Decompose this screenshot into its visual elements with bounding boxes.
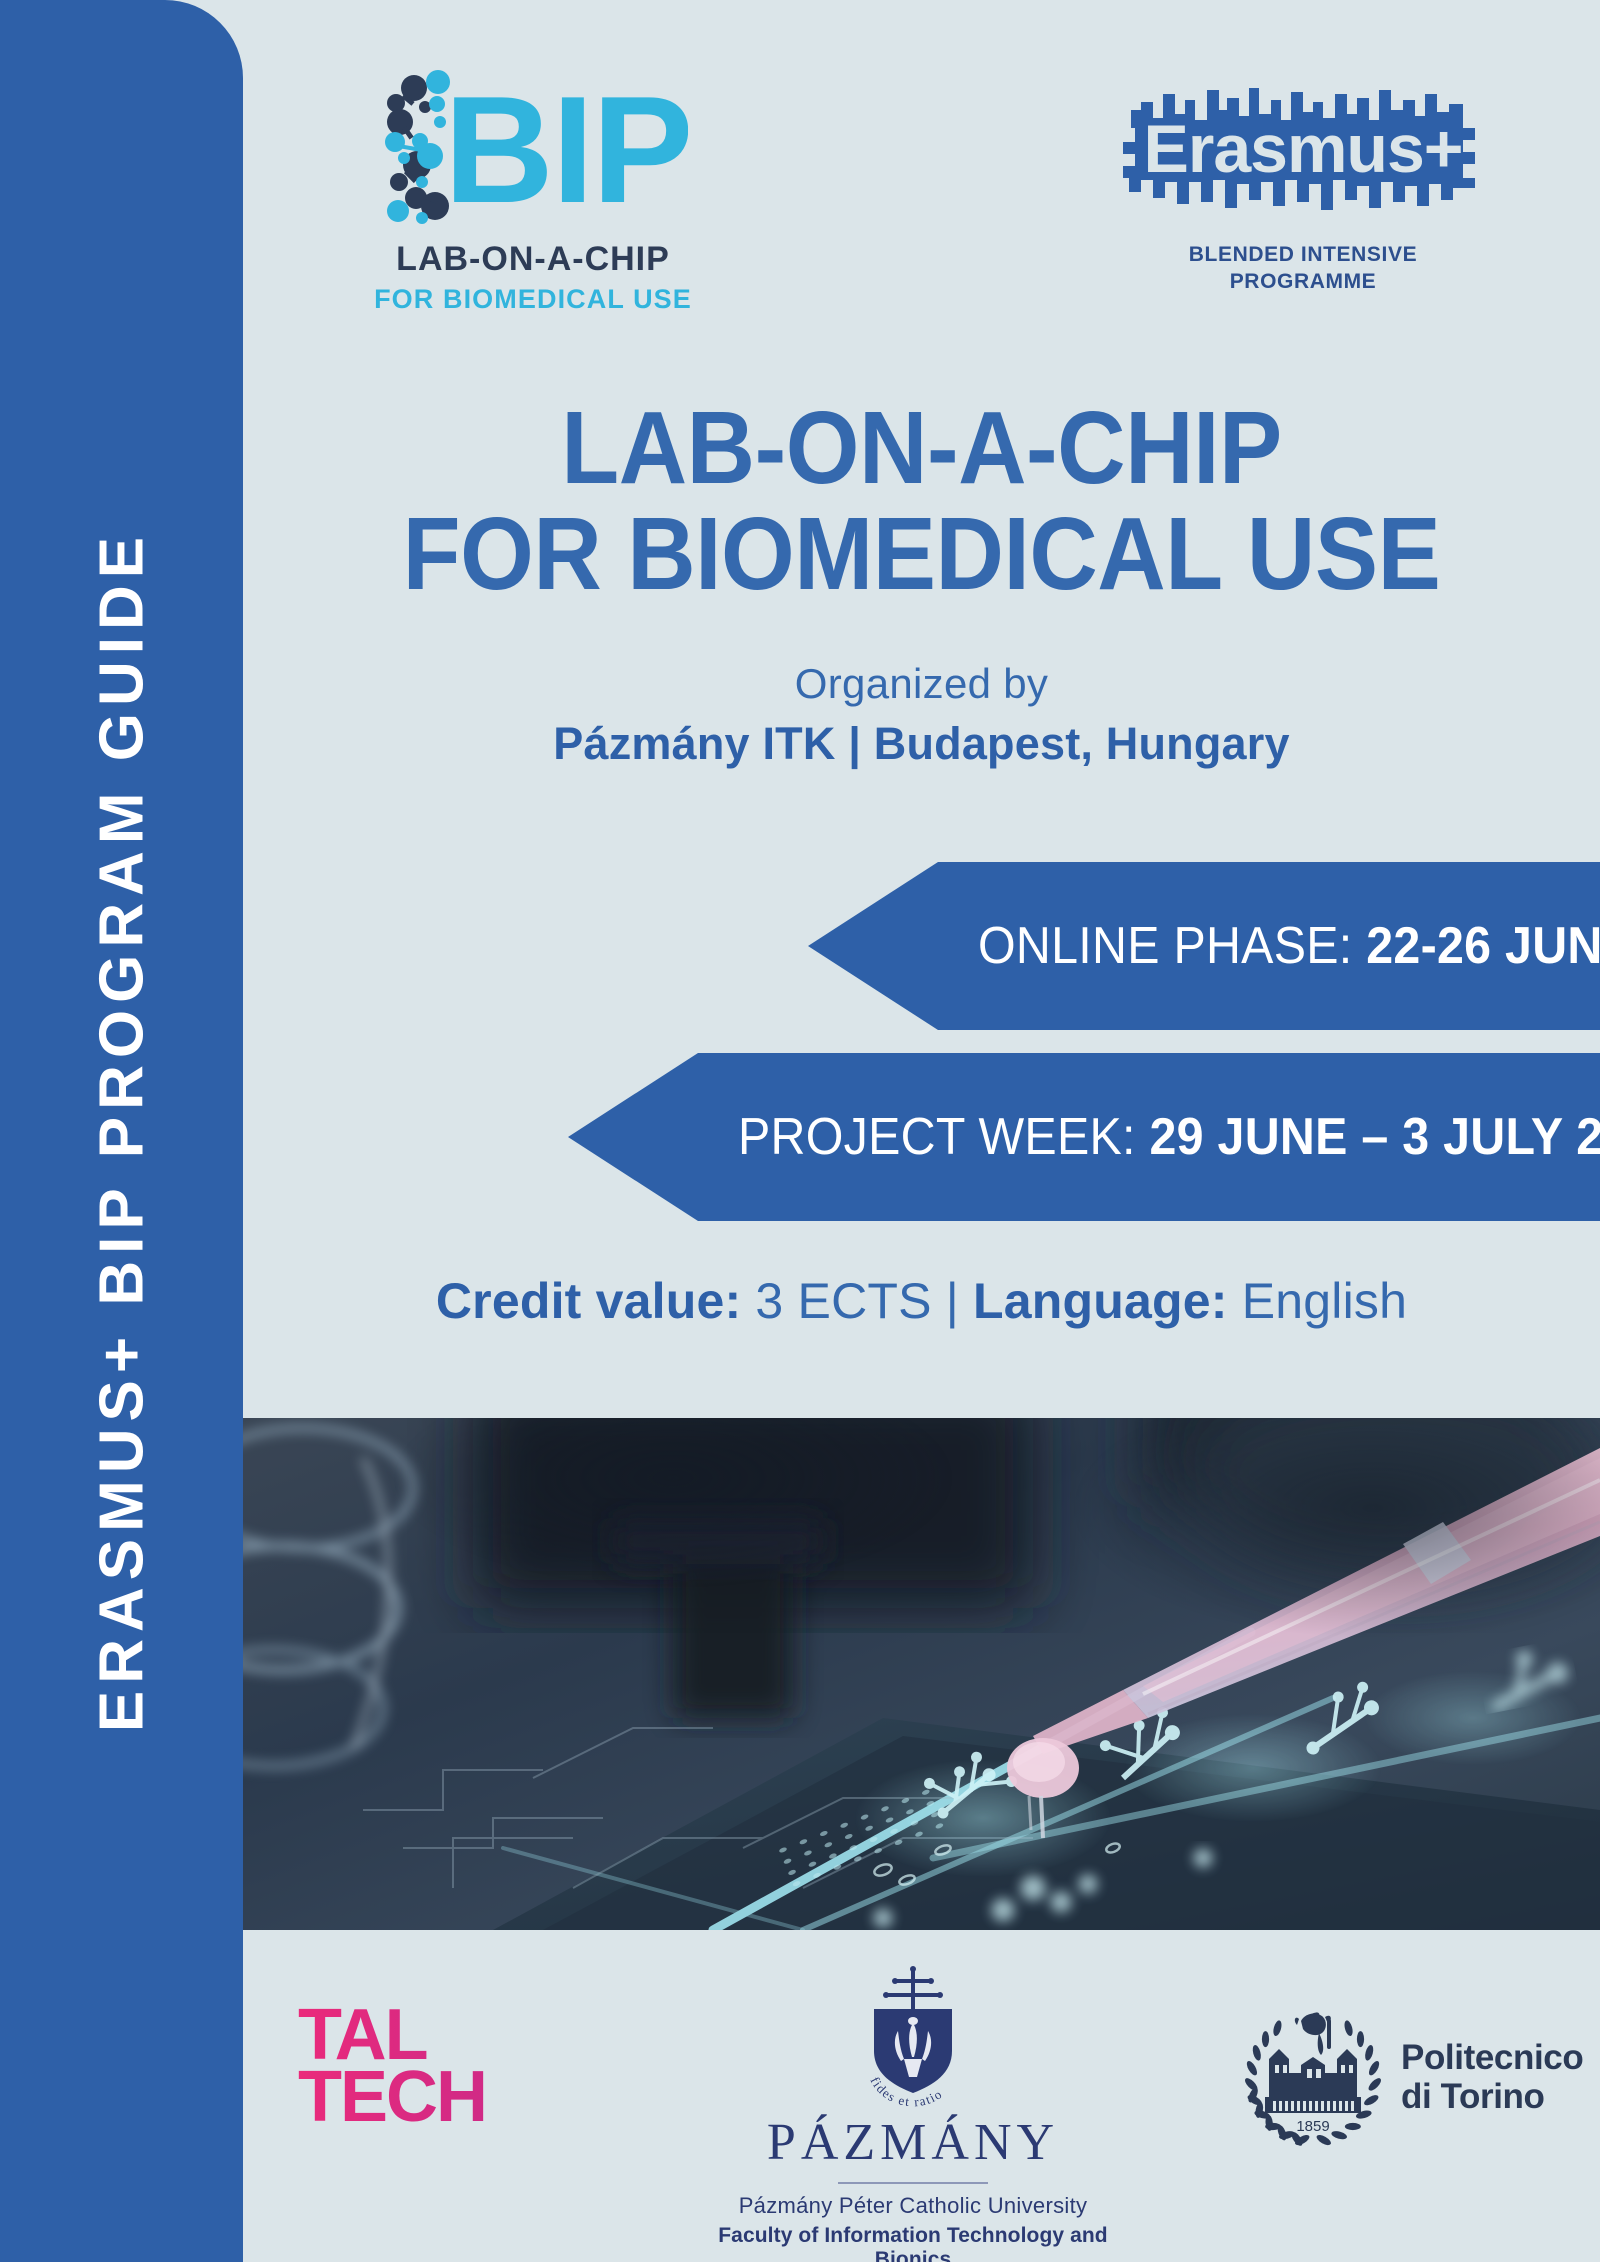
banner-project-week: PROJECT WEEK: 29 JUNE – 3 JULY 2026 (568, 1053, 1600, 1221)
partner-logo-row: TAL TECH (243, 1965, 1600, 2262)
language-value: English (1228, 1273, 1407, 1329)
poster-page: ERASMUS+ BIP PROGRAM GUIDE (0, 0, 1600, 2262)
erasmus-plus-logo: Erasmus+ BLENDED INTENSIVE PROGRAMME (1103, 80, 1503, 296)
credit-value-value: 3 ECTS (741, 1273, 945, 1329)
taltech-logo: TAL TECH (298, 2005, 558, 2129)
organized-by-label: Organized by (243, 660, 1600, 708)
left-sidebar: ERASMUS+ BIP PROGRAM GUIDE (0, 0, 243, 2262)
banner-online-phase-label: ONLINE PHASE: (978, 917, 1366, 975)
credit-value-label: Credit value: (436, 1273, 741, 1329)
bip-logo-line2: FOR BIOMEDICAL USE (333, 284, 733, 315)
organizer-name: Pázmány ITK | Budapest, Hungary (243, 718, 1600, 770)
banner-online-phase: ONLINE PHASE: 22-26 JUNE 2026 (808, 862, 1600, 1030)
banner-project-week-value: 29 JUNE – 3 JULY 2026 (1149, 1108, 1600, 1166)
erasmus-subtitle-line1: BLENDED INTENSIVE (1103, 242, 1503, 269)
politecnico-wordmark: Politecnico di Torino (1401, 2038, 1583, 2116)
pazmany-divider (838, 2182, 988, 2184)
hero-photo (243, 1418, 1600, 1930)
politecnico-crest-icon: 1859 (1243, 2007, 1383, 2147)
banner-online-phase-value: 22-26 JUNE 2026 (1366, 917, 1600, 975)
erasmus-plus-wordmark-icon: Erasmus+ (1123, 80, 1483, 230)
poster-title-line1: LAB-ON-A-CHIP (297, 395, 1545, 501)
header-logo-row: BIP LAB-ON-A-CHIP FOR BIOMEDICAL USE (243, 70, 1600, 340)
bip-logo: BIP LAB-ON-A-CHIP FOR BIOMEDICAL USE (333, 70, 733, 315)
svg-text:Erasmus+: Erasmus+ (1144, 111, 1463, 187)
credit-separator: | (946, 1273, 973, 1329)
pazmany-logo: fides et ratio PÁZMÁNY Pázmány Péter Cat… (698, 1965, 1128, 2262)
poster-title-line2: FOR BIOMEDICAL USE (297, 501, 1545, 607)
credit-language-line: Credit value: 3 ECTS | Language: English (243, 1272, 1600, 1330)
erasmus-subtitle-line2: PROGRAMME (1103, 269, 1503, 296)
poster-title: LAB-ON-A-CHIP FOR BIOMEDICAL USE (243, 395, 1600, 607)
politecnico-wordmark-line2: di Torino (1401, 2077, 1583, 2116)
pazmany-university: Pázmány Péter Catholic University (698, 2193, 1128, 2219)
pazmany-faculty: Faculty of Information Technology and Bi… (698, 2224, 1128, 2262)
main-content: BIP LAB-ON-A-CHIP FOR BIOMEDICAL USE (243, 0, 1600, 2262)
language-label: Language: (973, 1273, 1228, 1329)
bip-wordmark-icon: BIP (378, 70, 688, 230)
pazmany-name: PÁZMÁNY (698, 2113, 1128, 2172)
taltech-logo-line2: TECH (298, 2067, 558, 2129)
pazmany-crest-icon: fides et ratio (698, 1965, 1128, 2107)
banner-project-week-label: PROJECT WEEK: (738, 1108, 1149, 1166)
politecnico-year: 1859 (1296, 2118, 1329, 2135)
politecnico-wordmark-line1: Politecnico (1401, 2038, 1583, 2077)
politecnico-torino-logo: 1859 Politecnico di Torino (1243, 2007, 1583, 2147)
bip-logo-line1: LAB-ON-A-CHIP (333, 240, 733, 279)
svg-text:BIP: BIP (444, 70, 688, 230)
sidebar-vertical-title: ERASMUS+ BIP PROGRAM GUIDE (86, 530, 157, 1732)
